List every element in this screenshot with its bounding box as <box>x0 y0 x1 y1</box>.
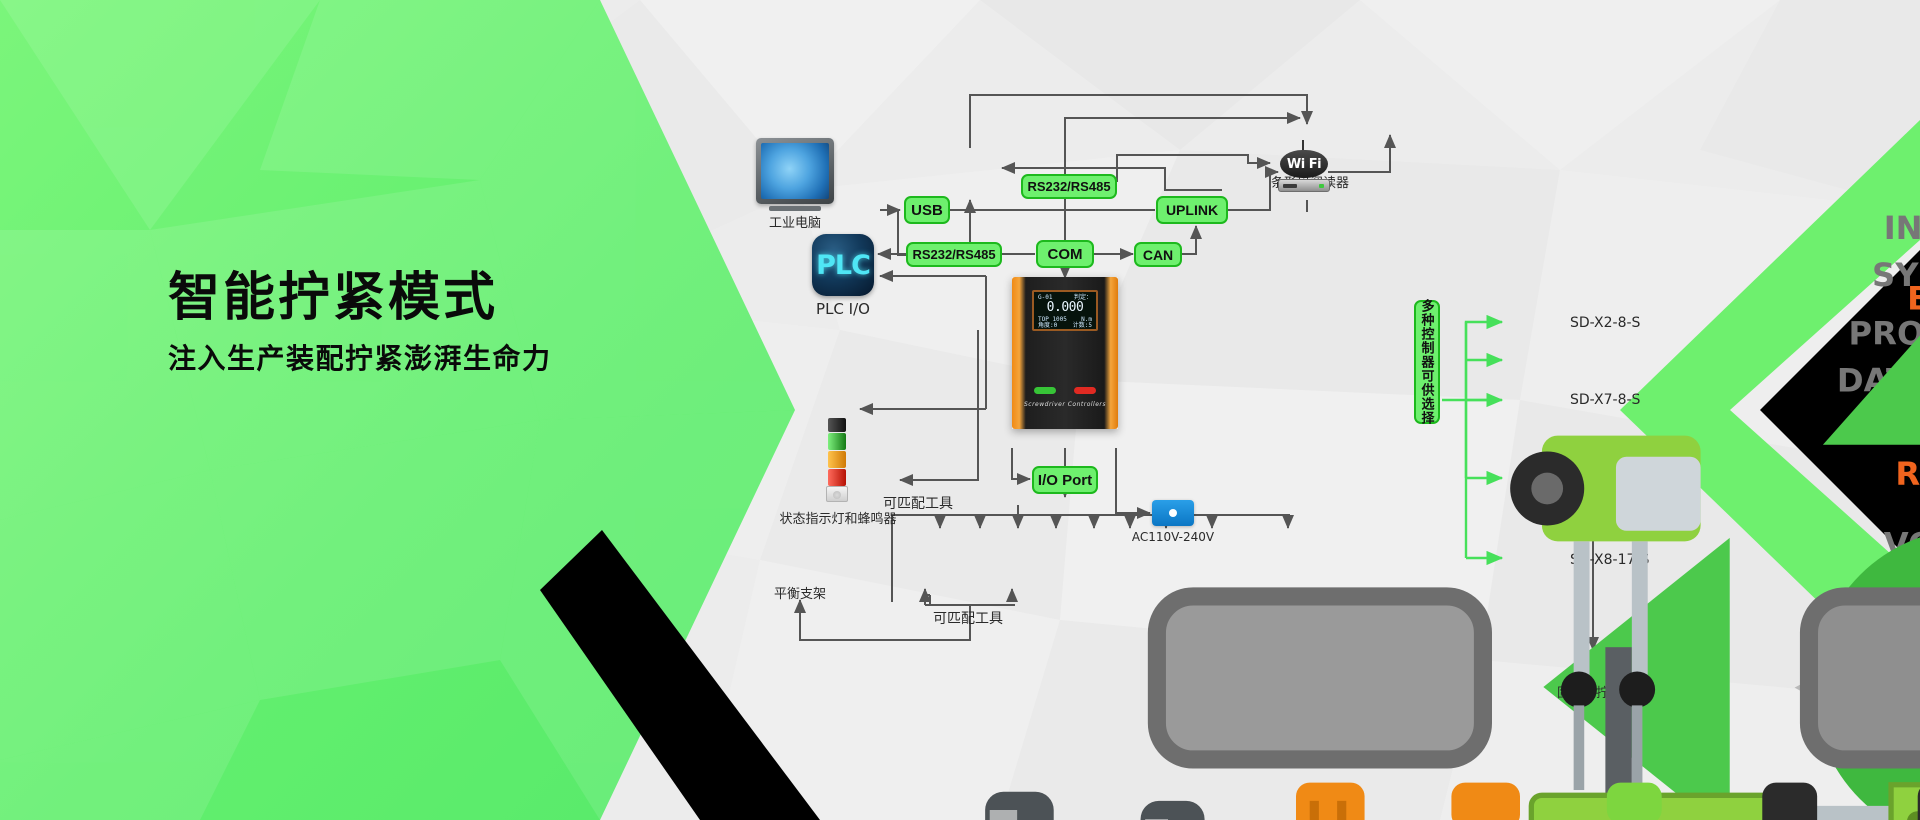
port-label-rs232-left-text: RS232/RS485 <box>912 247 995 262</box>
pc-monitor <box>756 138 834 204</box>
port-label-com-text: COM <box>1048 246 1083 263</box>
controller-unit: G-01 判定： 0.000 TOP 1005 N.m 角度:0 计数:5 <box>1012 277 1118 429</box>
banner-stage: 智能拧紧模式 注入生产装配拧紧澎湃生命力 <box>0 0 1920 820</box>
industrial-pc[interactable] <box>756 138 834 211</box>
tools-top-label: 可匹配工具 <box>883 493 953 513</box>
screwdriver-tools-icon <box>912 528 1920 820</box>
pc-screen <box>761 143 829 199</box>
port-label-usb-text: USB <box>911 202 943 219</box>
tool-2 <box>1141 801 1205 820</box>
system-diagram: USB RS232/RS485 RS232/RS485 COM CAN UPLI… <box>0 0 1920 820</box>
port-label-rs232-right-text: RS232/RS485 <box>1027 179 1110 194</box>
port-label-rs232-right[interactable]: RS232/RS485 <box>1021 174 1117 199</box>
plc-io-device[interactable]: PLC <box>812 234 874 296</box>
controller-model-sd-x2-label: SD-X2-8-S <box>1570 315 1640 331</box>
tool-4 <box>1451 783 1520 820</box>
port-label-can-text: CAN <box>1143 247 1173 263</box>
port-label-uplink-text: UPLINK <box>1166 202 1218 218</box>
tool-5 <box>1607 783 1662 820</box>
port-label-rs232-left[interactable]: RS232/RS485 <box>906 242 1002 267</box>
svg-text:INFORMATION: INFORMATION <box>1884 209 1920 247</box>
balance-arm-label: 平衡支架 <box>774 583 826 602</box>
plc-icon: PLC <box>812 234 874 296</box>
circuit-pattern-icon <box>812 234 874 296</box>
wifi-ball: Wi Fi <box>1280 150 1328 178</box>
wifi-label-text: Wi Fi <box>1287 157 1321 172</box>
tool-6 <box>1762 783 1817 820</box>
industrial-pc-label: 工业电脑 <box>769 212 821 231</box>
tool-1 <box>985 792 1054 820</box>
windows-logo-icon <box>761 143 829 199</box>
port-label-uplink[interactable]: UPLINK <box>1156 196 1228 224</box>
plc-io-label: PLC I/O <box>816 300 870 318</box>
port-label-can[interactable]: CAN <box>1134 242 1182 267</box>
port-label-usb[interactable]: USB <box>904 196 950 224</box>
big-data-cloud: BIG DATA STORAGE ANALYTICS INFORMATIONSY… <box>1322 40 1502 180</box>
main-screwdriver-controller[interactable]: G-01 判定： 0.000 TOP 1005 N.m 角度:0 计数:5 <box>1012 277 1118 429</box>
port-label-com[interactable]: COM <box>1036 240 1094 268</box>
tool-3 <box>1296 783 1365 820</box>
controller-model-sd-x7-8s-label: SD-X7-8-S <box>1570 392 1640 408</box>
